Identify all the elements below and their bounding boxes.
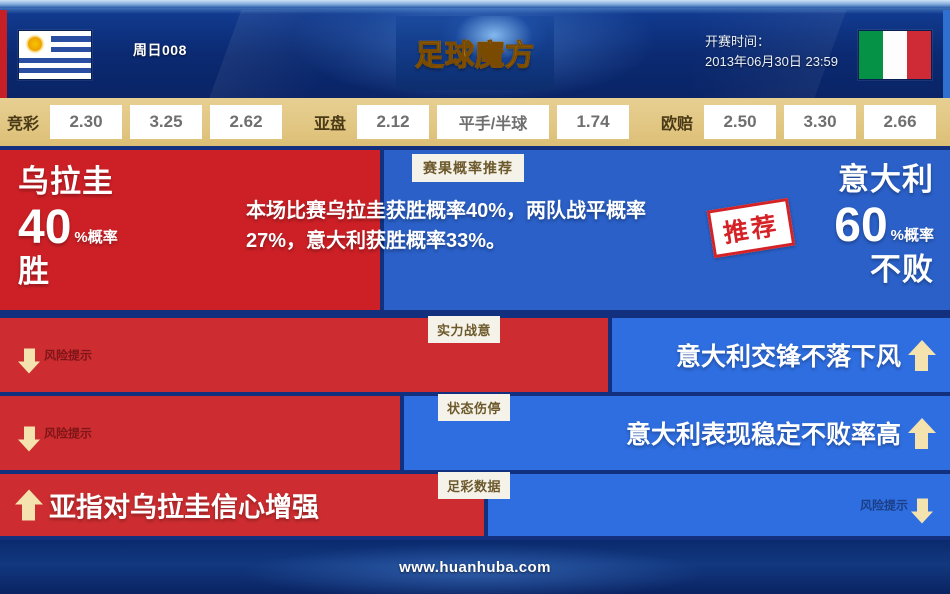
probability-summary-text: 本场比赛乌拉圭获胜概率40%，两队战平概率27%，意大利获胜概率33%。: [246, 196, 676, 256]
away-probability-unit: %概率: [891, 228, 934, 243]
insight-row-2-text: 意大利表现稳定不败率高: [626, 415, 901, 451]
insight-row-2-message: 意大利表现稳定不败率高: [626, 415, 928, 451]
site-logo-text: 足球魔方: [415, 32, 535, 74]
insight-row-3-text: 亚指对乌拉圭信心增强: [49, 486, 319, 525]
match-number: 周日008: [133, 40, 187, 60]
away-probability-value: 60: [834, 204, 887, 247]
odds-cell-jc-home[interactable]: 2.30: [50, 105, 122, 139]
insight-row-1-message: 意大利交锋不落下风: [676, 337, 928, 373]
uruguay-sun-icon: [28, 37, 42, 51]
kickoff-block: 开赛时间： 2013年06月30日 23:59: [705, 32, 838, 72]
italy-flag-icon: [858, 30, 932, 80]
arrow-up-icon: [915, 355, 928, 371]
odds-label-oupei: 欧赔: [661, 110, 693, 134]
insight-row-1-tag: 实力战意: [428, 316, 500, 343]
uruguay-flag-icon: [18, 30, 92, 80]
insight-row-1-text: 意大利交锋不落下风: [676, 337, 901, 373]
insight-row-1-risk-label: 风险提示: [44, 347, 92, 364]
odds-cell-op-draw[interactable]: 3.30: [784, 105, 856, 139]
odds-label-jingcai: 竞彩: [7, 110, 39, 134]
arrow-up-icon: [22, 505, 35, 521]
insight-row-3-risk-label: 风险提示: [860, 497, 908, 514]
arrow-down-icon: [24, 427, 35, 440]
home-team-name: 乌拉圭: [18, 166, 118, 197]
odds-cell-op-home[interactable]: 2.50: [704, 105, 776, 139]
site-footer: www.huanhuba.com: [0, 540, 950, 594]
insight-row-1-blue: 意大利交锋不落下风: [612, 318, 950, 392]
footer-url[interactable]: www.huanhuba.com: [399, 559, 551, 576]
site-logo[interactable]: 足球魔方: [396, 16, 554, 90]
odds-cell-jc-draw[interactable]: 3.25: [130, 105, 202, 139]
insight-row-2-risk-label: 风险提示: [44, 425, 92, 442]
insight-row-2-tag: 状态伤停: [438, 394, 510, 421]
insight-row-3-tag: 足彩数据: [438, 472, 510, 499]
arrow-down-icon: [917, 499, 928, 512]
home-probability-unit: %概率: [74, 230, 117, 245]
header-sheen: [0, 0, 950, 8]
banner-section-tag: 赛果概率推荐: [412, 154, 524, 182]
insight-row-1-risk-note: 风险提示: [24, 347, 92, 364]
away-outcome-label: 不败: [834, 254, 934, 285]
arrow-up-icon: [915, 433, 928, 449]
arrow-down-icon: [24, 349, 35, 362]
home-probability-value: 40: [18, 206, 71, 249]
match-header: 周日008 足球魔方 开赛时间： 2013年06月30日 23:59: [0, 0, 950, 98]
odds-group-yapan: 亚盘 2.12 平手/半球 1.74: [307, 105, 633, 139]
away-team-block: 意大利 60 %概率 不败: [834, 164, 934, 285]
kickoff-value: 2013年06月30日 23:59: [705, 52, 838, 72]
kickoff-label: 开赛时间：: [705, 32, 838, 52]
odds-cell-ap-home[interactable]: 2.12: [357, 105, 429, 139]
insight-row-3-message: 亚指对乌拉圭信心增强: [22, 486, 319, 525]
odds-bar: 竞彩 2.30 3.25 2.62 亚盘 2.12 平手/半球 1.74 欧赔 …: [0, 98, 950, 146]
odds-group-jingcai: 竞彩 2.30 3.25 2.62: [0, 105, 286, 139]
home-team-block: 乌拉圭 40 %概率 胜: [18, 166, 118, 287]
infographic-root: 周日008 足球魔方 开赛时间： 2013年06月30日 23:59 竞彩 2.…: [0, 0, 950, 594]
insight-row-3-blue: 风险提示: [488, 474, 950, 536]
odds-cell-handicap[interactable]: 平手/半球: [437, 105, 549, 139]
home-outcome-label: 胜: [18, 256, 118, 287]
odds-cell-jc-away[interactable]: 2.62: [210, 105, 282, 139]
insight-row-2-red: 风险提示: [0, 396, 400, 470]
recommend-stamp-text: 推荐: [721, 206, 782, 250]
insight-row-2-risk-note: 风险提示: [24, 425, 92, 442]
insight-row-3-red: 亚指对乌拉圭信心增强: [0, 474, 484, 536]
odds-cell-ap-away[interactable]: 1.74: [557, 105, 629, 139]
odds-label-yapan: 亚盘: [314, 110, 346, 134]
insight-row-1-red: 风险提示: [0, 318, 608, 392]
odds-group-oupei: 欧赔 2.50 3.30 2.66: [654, 105, 940, 139]
insight-row-3-risk-note: 风险提示: [860, 497, 928, 514]
odds-cell-op-away[interactable]: 2.66: [864, 105, 936, 139]
header-red-edge: [0, 10, 7, 98]
away-team-name: 意大利: [834, 164, 934, 195]
header-blue-edge: [943, 10, 950, 98]
